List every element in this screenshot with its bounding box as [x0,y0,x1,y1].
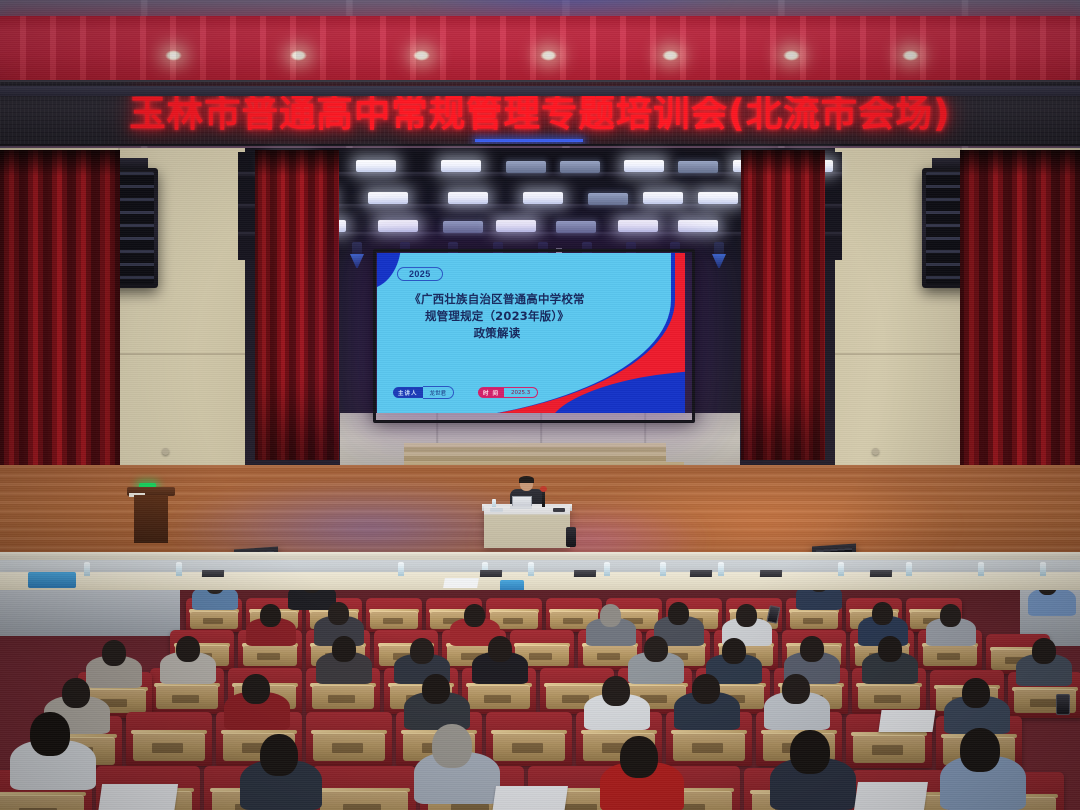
audience-head [962,678,990,708]
water-bottle [838,562,844,576]
wall-fixture-knob [872,448,879,455]
stage-light-fixture [378,220,418,232]
stage-light-fixture [678,161,718,173]
wooden-podium [127,487,175,545]
table-nameplate [553,508,565,512]
audience-head [62,678,90,708]
table-nameplate [870,570,892,577]
aisle-floor [0,590,180,636]
par-can-light [350,242,364,268]
audience-head [332,636,356,662]
presenter-bag [566,527,576,547]
table-nameplate [480,570,502,577]
stage-light-fixture [624,160,664,172]
audience-head [872,602,893,625]
audience-seating [0,590,1080,810]
water-bottle [604,562,610,576]
table-nameplate [760,570,782,577]
audience-head [960,728,1000,772]
stage-light-fixture [523,192,563,204]
water-bottle [492,499,496,507]
downlight [662,50,679,61]
red-ceiling-light-band [0,16,1080,86]
downlight [165,50,182,61]
audience-head [242,674,270,704]
audience-head [878,636,902,662]
audience-head [602,676,630,706]
audience-head [328,602,349,625]
audience-head [30,712,70,756]
stage-light-fixture [556,221,596,233]
table-item [490,508,503,512]
presenter-laptop [510,496,532,510]
stage-light-fixture [643,192,683,204]
table-nameplate [574,570,596,577]
stage-light-fixture [588,193,628,205]
stage-curtain-inner-right [741,150,825,460]
audience-head [176,636,200,662]
audience-head [668,602,689,625]
audience-head [620,736,658,778]
audience-notes [492,786,568,810]
downlight [783,50,800,61]
audience-head [722,638,746,664]
audience-head [736,604,757,627]
podium-body [134,495,168,543]
stage-light-fixture [678,220,718,232]
stage-light-fixture [506,161,546,173]
seat [366,598,422,632]
smartphone [1056,694,1070,715]
audience-head [488,636,512,662]
water-bottle [660,562,666,576]
presenter-table [484,506,570,548]
presenter-microphone [542,489,545,507]
stage-light-fixture [618,220,658,232]
water-bottle [718,562,724,576]
stage-light-fixture [441,160,481,172]
stage-light-fixture [368,192,408,204]
water-bottle [1040,562,1046,576]
audience-head [782,674,810,704]
ceiling-edge [0,86,1080,96]
stage-curtain-inner-left [255,150,339,460]
audience-head [102,640,126,666]
presenter-hair [519,476,534,483]
audience-head [1032,638,1056,664]
audience-person [796,590,842,610]
water-bottle [978,562,984,576]
seat [312,766,416,810]
stage-light-fixture [356,160,396,172]
stage-light-fixture [496,220,536,232]
water-bottle [398,562,404,576]
table-paper [443,578,479,588]
stage-light-fixture [698,192,738,204]
audience-head [464,604,485,627]
seat [486,712,572,766]
audience-head [600,604,621,627]
seat [306,712,392,766]
audience-head [692,674,720,704]
led-screen-bezel [373,249,695,423]
table-blue-item [28,572,76,588]
water-bottle [906,562,912,576]
par-can-light [712,242,726,268]
audience-head [644,636,668,662]
audience-notes [98,784,178,810]
downlight [290,50,307,61]
stage-light-fixture [560,161,600,173]
wall-fixture-knob [162,448,169,455]
audience-head [410,638,434,664]
stage-light-fixture [448,192,488,204]
audience-notes [854,782,928,810]
seat [126,712,212,766]
stage-light-fixture [443,221,483,233]
audience-head [940,604,961,627]
downlight [413,50,430,61]
audience-head [790,730,830,774]
audience-head [800,636,824,662]
audience-notes [878,710,935,732]
water-bottle [528,562,534,576]
water-bottle [84,562,90,576]
audience-head [422,674,450,704]
auditorium-photo: 玉林市普通高中常规管理专题培训会(北流市会场) [0,0,1080,810]
audience-head [260,734,298,776]
audience-head [432,724,472,768]
marquee-text: 玉林市普通高中常规管理专题培训会(北流市会场) [129,95,950,132]
water-bottle [176,562,182,576]
downlight [540,50,557,61]
table-nameplate [202,570,224,577]
table-nameplate [690,570,712,577]
marquee-blue-strip [475,139,583,142]
audience-head [260,604,281,627]
downlight [902,50,919,61]
